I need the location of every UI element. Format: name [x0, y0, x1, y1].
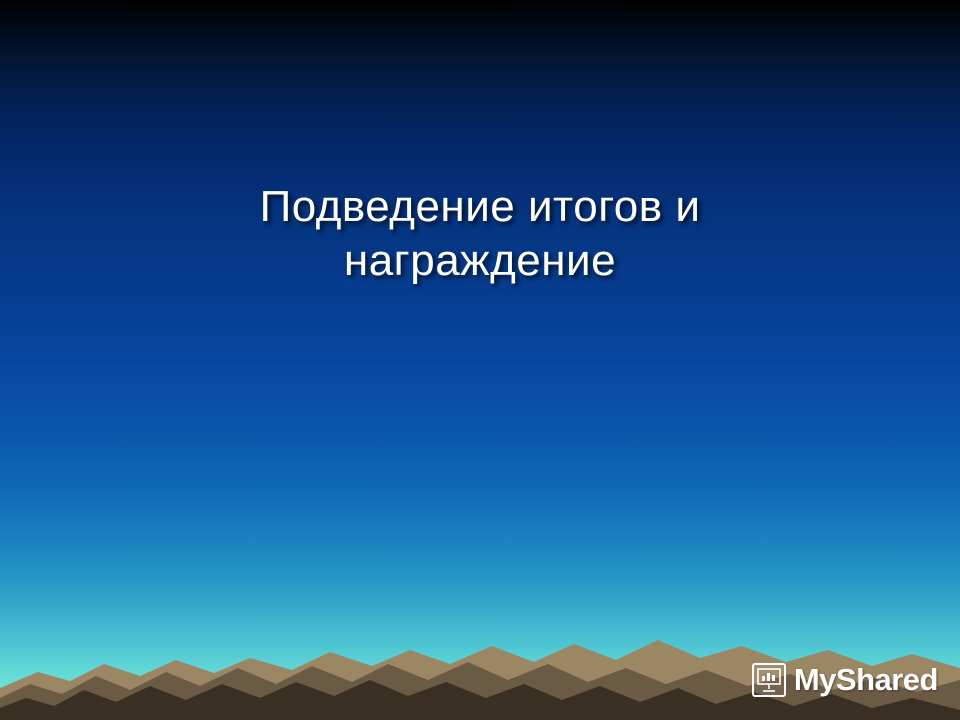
presentation-chart-icon — [752, 663, 786, 697]
slide-title-line-1: Подведение итогов и — [100, 180, 860, 234]
mysharedlogo: MyShared — [752, 662, 938, 698]
mysharedlogo-label: MyShared — [794, 662, 938, 698]
mountain-range-graphic — [0, 580, 960, 720]
slide-title-line-2: награждение — [100, 234, 860, 288]
slide-title: Подведение итогов и награждение — [100, 180, 860, 287]
presentation-slide: Подведение итогов и награждение MyShared — [0, 0, 960, 720]
